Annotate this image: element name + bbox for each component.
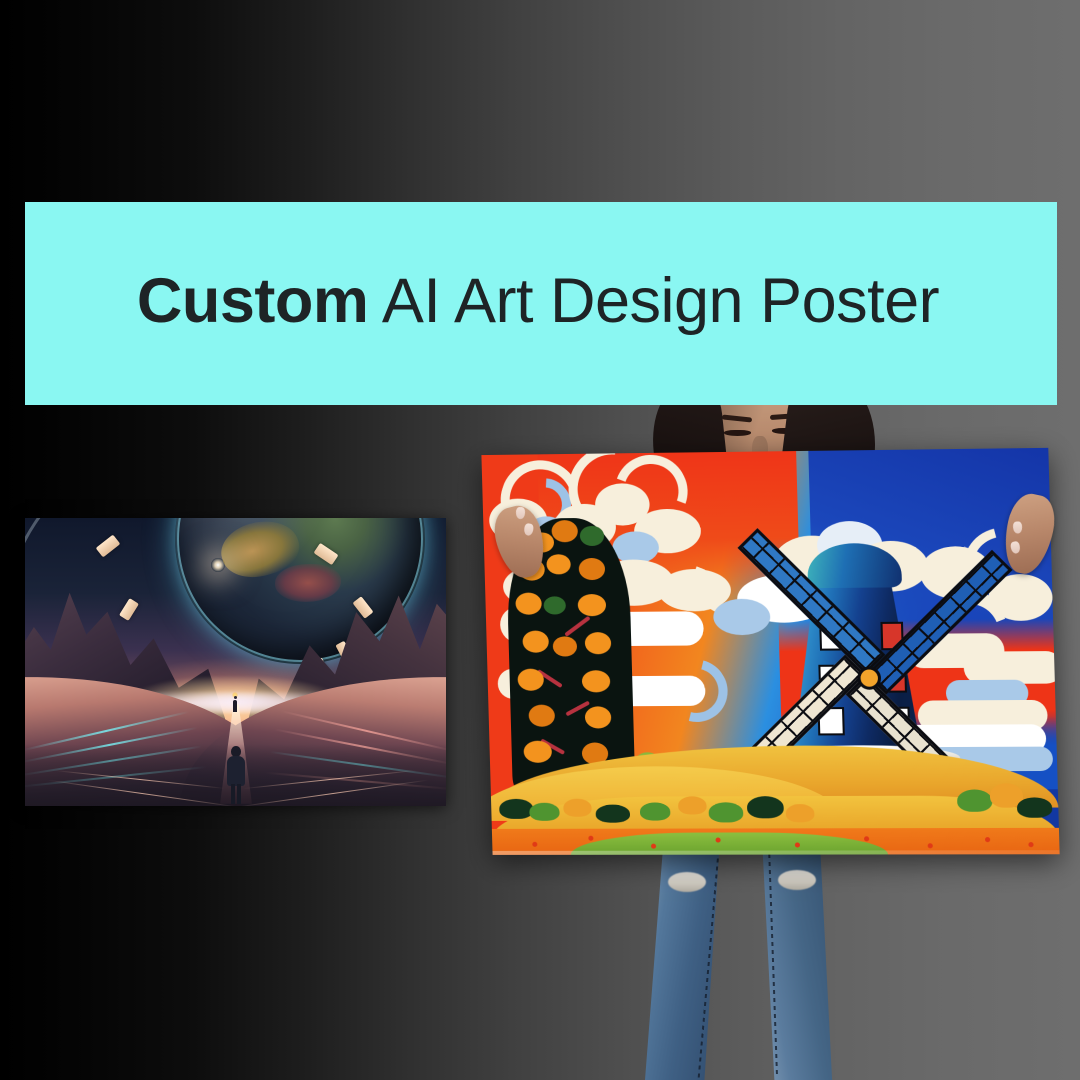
- tree-leaf: [585, 632, 612, 654]
- tree-leaf: [546, 554, 571, 574]
- bush: [499, 799, 534, 819]
- fingernail: [516, 507, 525, 519]
- tree-leaf: [517, 669, 544, 691]
- walking-figure: [225, 746, 247, 804]
- tree-leaf: [528, 705, 555, 727]
- distant-figure: [231, 694, 239, 712]
- bush: [1017, 797, 1053, 817]
- title-rest: AI Art Design Poster: [368, 266, 939, 336]
- bush: [640, 802, 671, 820]
- tree-leaf: [585, 706, 612, 728]
- bush: [529, 803, 560, 821]
- bush: [563, 799, 592, 817]
- fingernail: [1013, 521, 1023, 534]
- bush: [708, 802, 743, 822]
- eye: [724, 430, 751, 436]
- blade-hub: [857, 666, 881, 689]
- title-bold-word: Custom: [137, 266, 369, 336]
- flower-dot: [588, 836, 593, 841]
- flower-dot: [928, 843, 933, 848]
- flower-dot: [651, 844, 656, 849]
- lens-flare: [211, 558, 225, 572]
- fingernail: [1010, 541, 1021, 554]
- tree-leaf: [553, 636, 578, 656]
- tree-leaf: [522, 631, 549, 653]
- tree-leaf: [551, 520, 578, 542]
- page-title: Custom AI Art Design Poster: [137, 270, 939, 333]
- figure-body: [227, 756, 245, 786]
- jeans-rip: [668, 872, 706, 892]
- bush: [747, 796, 784, 818]
- title-banner: Custom AI Art Design Poster: [25, 202, 1057, 405]
- flower-dot: [864, 836, 869, 841]
- flower-dot: [532, 842, 537, 847]
- bush: [678, 796, 707, 814]
- figure-leg: [237, 784, 241, 804]
- flower-dot: [985, 837, 990, 842]
- tree-leaf: [523, 741, 552, 763]
- tree-leaf: [543, 596, 566, 614]
- tree-leaf: [579, 558, 606, 580]
- jeans-rip: [778, 870, 816, 890]
- bush: [957, 789, 993, 811]
- tree-leaf: [582, 670, 611, 692]
- figure-leg: [231, 784, 235, 804]
- tree-leaf: [578, 594, 607, 616]
- flower-dot: [795, 842, 800, 847]
- figure-head: [234, 696, 237, 699]
- fingernail: [523, 523, 534, 536]
- space-poster[interactable]: [25, 518, 446, 806]
- bush: [595, 805, 630, 823]
- flower-dot: [1028, 842, 1033, 847]
- flower-dot: [715, 838, 720, 843]
- bush: [786, 804, 815, 822]
- figure-body: [233, 700, 237, 712]
- windmill-poster[interactable]: [481, 448, 1059, 855]
- hero-image-canvas: Custom AI Art Design Poster: [0, 0, 1080, 1080]
- tree-leaf: [580, 526, 605, 546]
- poster-bottom-edge: [492, 850, 1059, 855]
- tree-leaf: [515, 593, 542, 615]
